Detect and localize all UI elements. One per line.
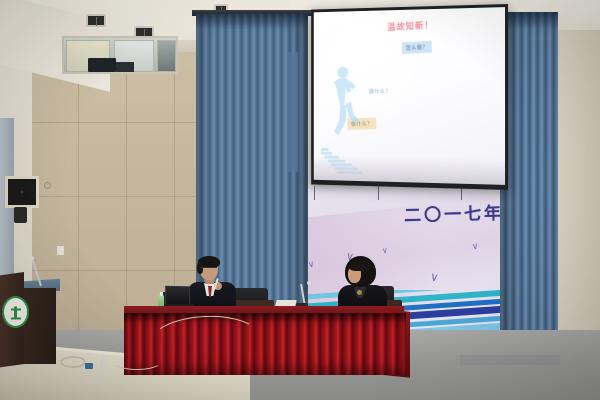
microphone-head-icon	[307, 281, 311, 285]
wall-knob	[44, 182, 51, 189]
monitor-mount	[14, 207, 27, 223]
wall-monitor-icon	[5, 176, 39, 208]
bird-motif-icon: ∨	[382, 246, 389, 256]
booth-equipment	[88, 58, 116, 72]
audio-cable	[112, 352, 162, 370]
slide-tag: 做什么？	[365, 85, 395, 98]
slide-tag: 怎么做？	[402, 41, 432, 54]
projection-screen: 温故知新！ 怎么做？ 做什么？ 做什么？	[311, 4, 508, 190]
slide-title: 温故知新！	[387, 18, 434, 33]
cable-plug	[85, 363, 93, 369]
ceiling-light-icon	[86, 14, 106, 27]
booth-equipment	[116, 62, 134, 72]
cable-coil	[60, 356, 86, 368]
microphone-head-icon	[30, 256, 34, 260]
institution-crest-icon	[2, 296, 29, 328]
glasses-icon	[200, 267, 217, 270]
auditorium-photo: 二〇一七年 ∨ ∨ ∨ ∨ ∨ 温故知新！ 怎么做？ 做什么？ 做什么？	[0, 0, 600, 400]
wall-outlet	[56, 245, 65, 256]
climbing-person-icon	[326, 64, 362, 150]
floor-strip	[460, 355, 560, 365]
backdrop-title: 二〇一七年	[404, 199, 505, 227]
brooch-icon	[357, 290, 362, 295]
screen-side-shadow	[288, 52, 298, 172]
projection-screen-surface: 温故知新！ 怎么做？ 做什么？ 做什么？	[314, 7, 505, 185]
